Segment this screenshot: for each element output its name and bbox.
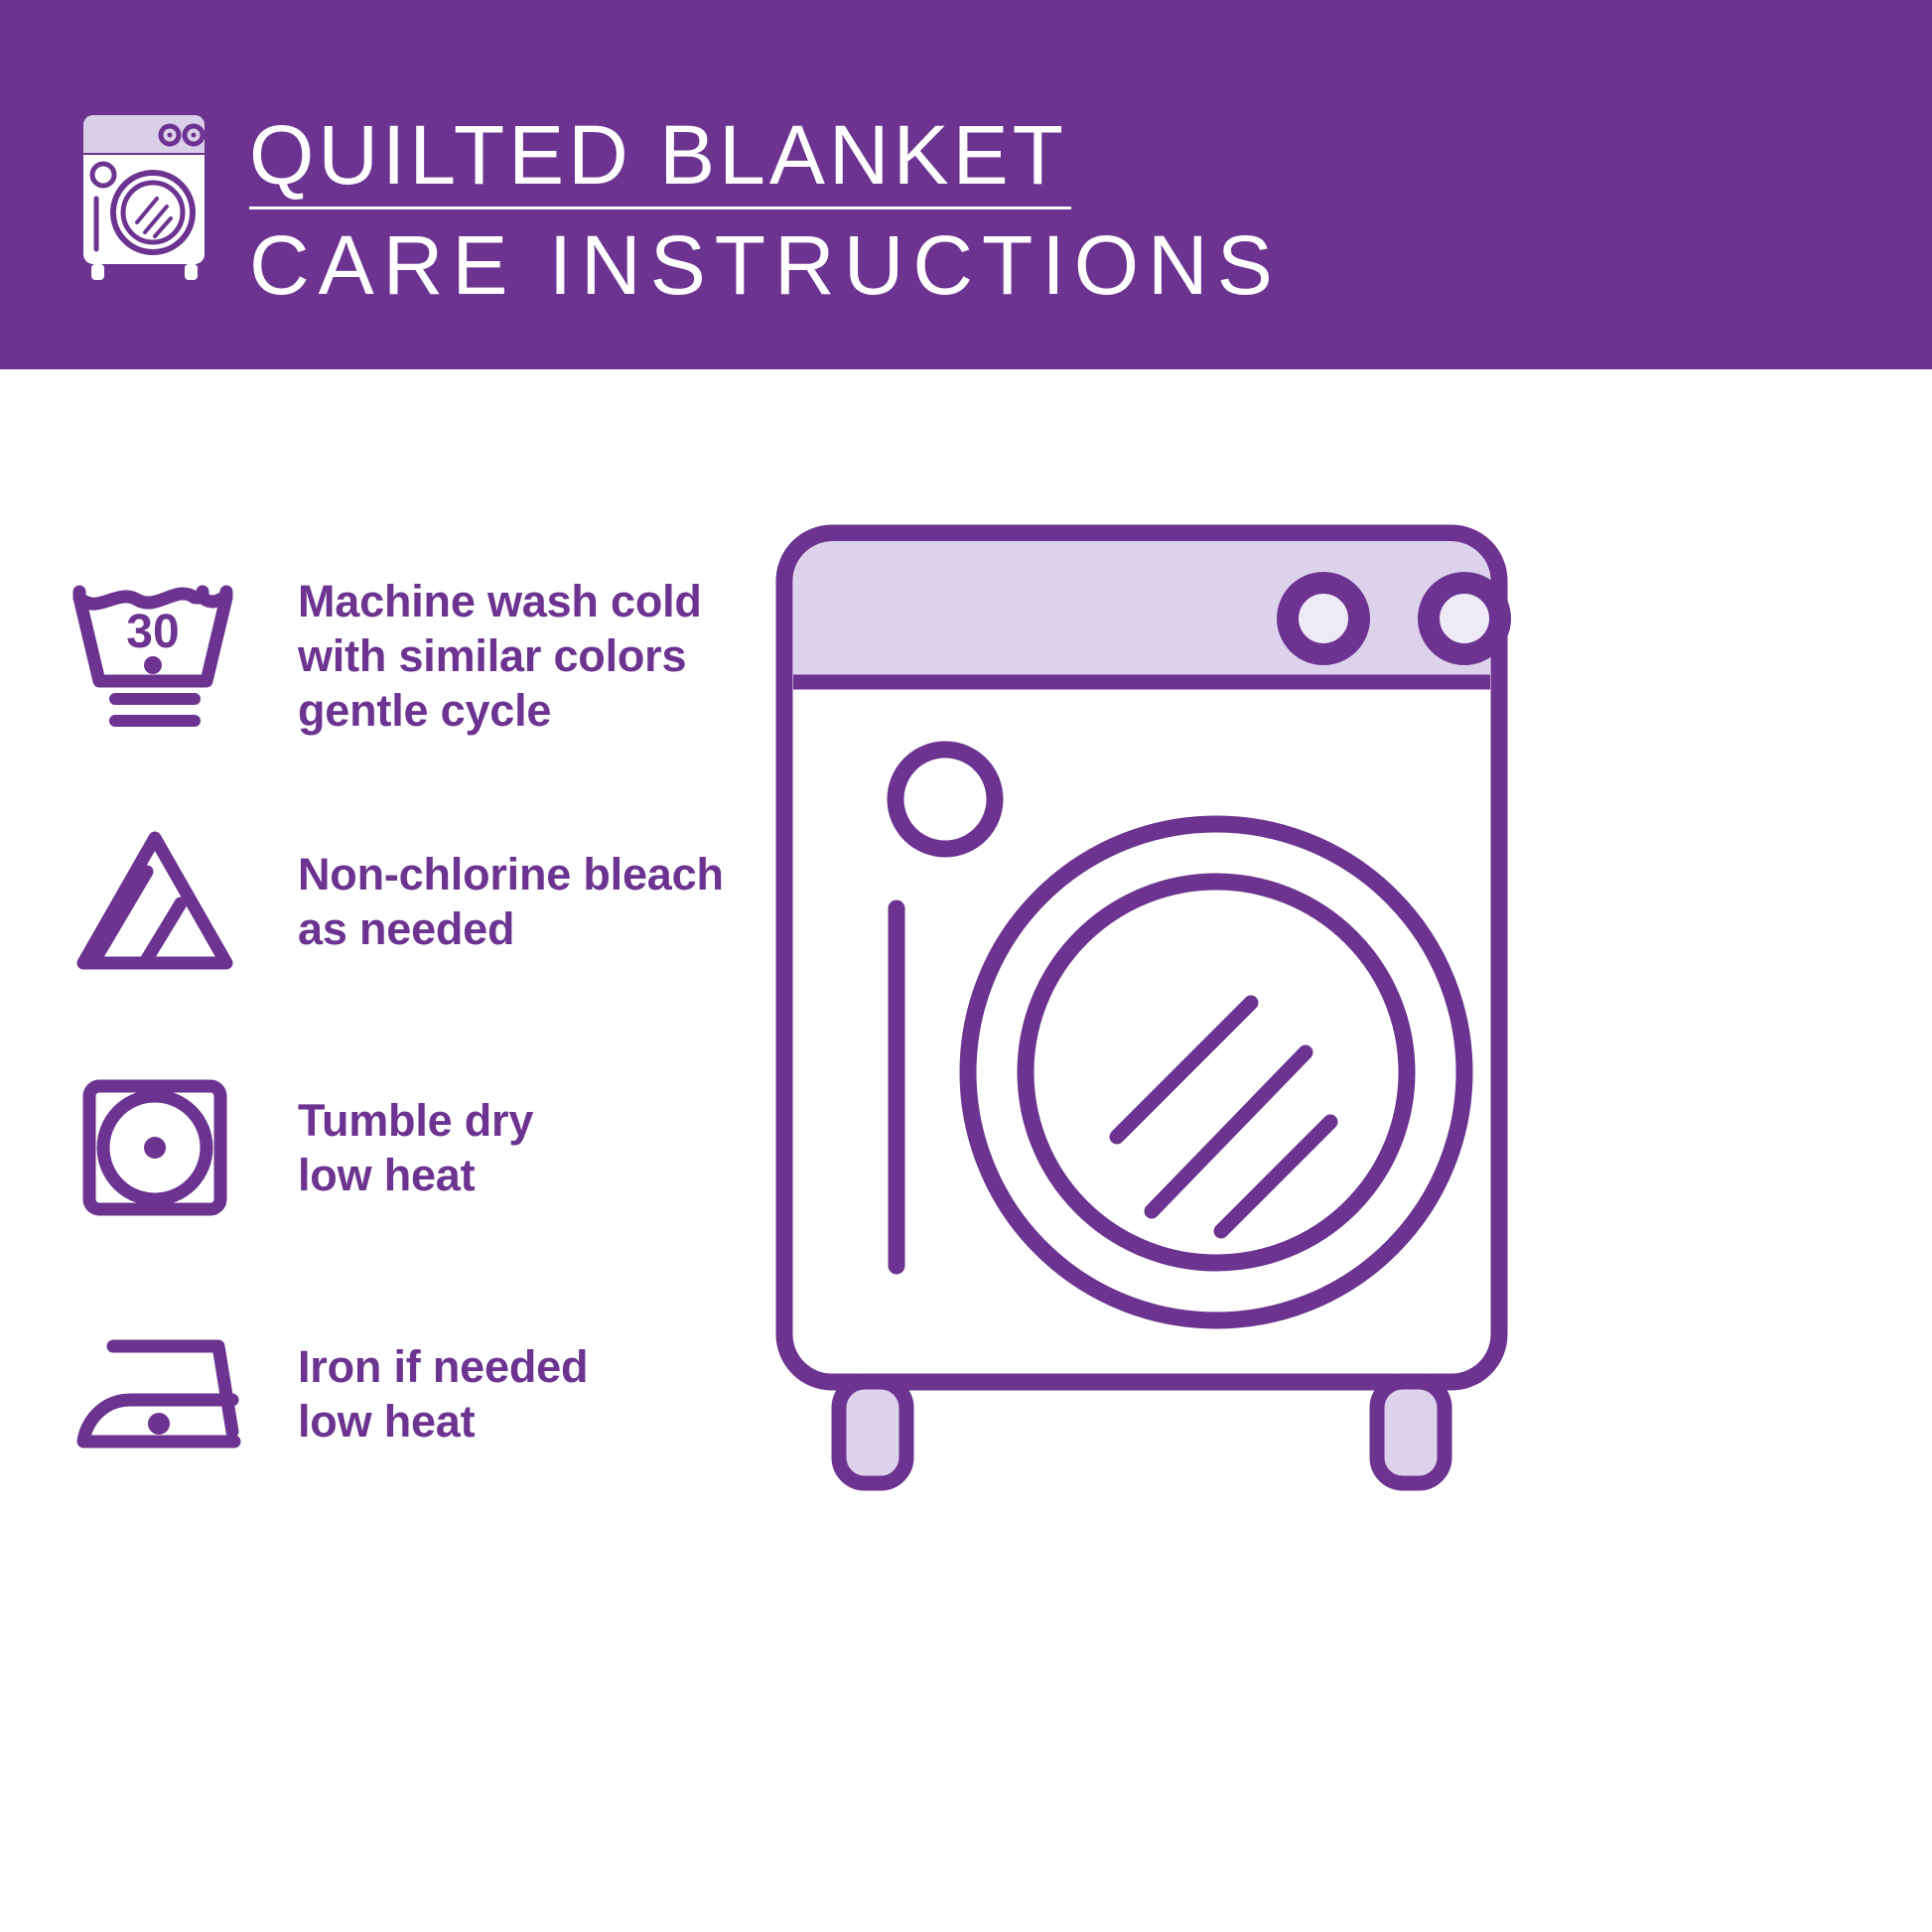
care-label-line: Machine wash cold — [298, 574, 702, 628]
front-load-washing-machine — [764, 511, 1519, 1494]
control-panel — [793, 541, 1490, 682]
page-title: QUILTED BLANKET — [249, 111, 1282, 199]
care-label-tumble-dry: Tumble dry low heat — [298, 1093, 533, 1202]
care-label-line: with similar colors — [298, 628, 702, 683]
page-subtitle: CARE INSTRUCTIONS — [249, 221, 1282, 309]
care-label-line: gentle cycle — [298, 683, 702, 738]
care-symbol-slot — [68, 814, 266, 989]
care-symbol-slot: 30 — [68, 568, 266, 743]
iron-low-heat-icon — [68, 1314, 242, 1473]
wash-tub-30-gentle-icon: 30 — [68, 576, 242, 735]
care-row-bleach: Non-chlorine bleach as needed — [68, 778, 822, 1025]
non-chlorine-bleach-triangle-icon — [68, 822, 242, 981]
care-label-iron: Iron if needed low heat — [298, 1339, 588, 1449]
washing-machine-icon — [69, 107, 223, 282]
care-row-machine-wash: 30 Machine wash cold with similar colors… — [68, 532, 822, 778]
care-row-tumble-dry: Tumble dry low heat — [68, 1025, 822, 1271]
care-symbol-slot — [68, 1060, 266, 1235]
washer-foot-left — [839, 1382, 906, 1483]
care-label-line: low heat — [298, 1394, 588, 1449]
care-label-line: low heat — [298, 1148, 533, 1202]
knob-dial-right[interactable] — [1429, 583, 1500, 654]
header-banner: QUILTED BLANKET CARE INSTRUCTIONS — [0, 0, 1932, 369]
knob-dial-left[interactable] — [1288, 583, 1359, 654]
care-row-iron: Iron if needed low heat — [68, 1271, 822, 1517]
care-label-line: Non-chlorine bleach — [298, 847, 724, 901]
care-label-line: Tumble dry — [298, 1093, 533, 1148]
care-label-machine-wash: Machine wash cold with similar colors ge… — [298, 574, 702, 738]
care-symbol-slot — [68, 1307, 266, 1481]
washer-foot-right — [1377, 1382, 1445, 1483]
tumble-dry-low-icon — [68, 1068, 242, 1227]
header-divider — [249, 207, 1071, 209]
header-text-block: QUILTED BLANKET CARE INSTRUCTIONS — [249, 111, 1282, 309]
wash-temperature-value: 30 — [126, 606, 179, 658]
care-label-bleach: Non-chlorine bleach as needed — [298, 847, 724, 956]
care-label-line: Iron if needed — [298, 1339, 588, 1394]
care-label-line: as needed — [298, 901, 724, 956]
header-content: QUILTED BLANKET CARE INSTRUCTIONS — [69, 107, 1282, 309]
care-instruction-list: 30 Machine wash cold with similar colors… — [68, 532, 822, 1517]
